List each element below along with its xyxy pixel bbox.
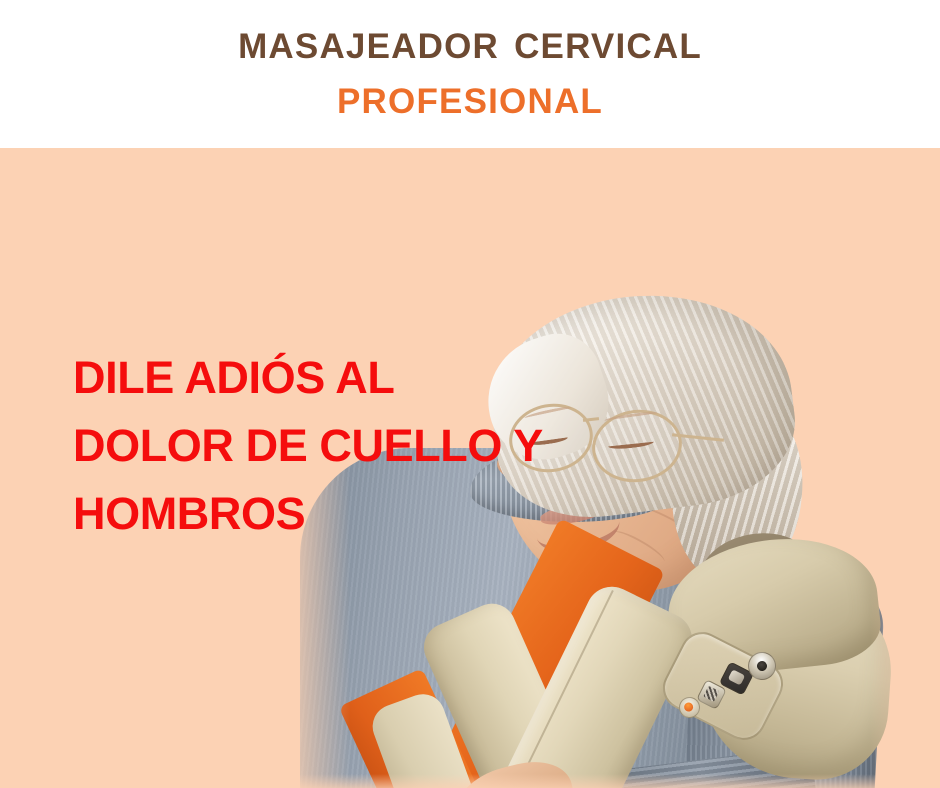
page-title: Masajeador Cervical: [238, 0, 702, 70]
page-subtitle: Profesional: [337, 68, 603, 124]
headline-line-2: DOLOR DE CUELLO Y: [73, 412, 543, 480]
headline-line-3: HOMBROS: [73, 480, 543, 548]
advertisement-banner: DILE ADIÓS AL DOLOR DE CUELLO Y HOMBROS …: [0, 0, 940, 788]
photo-edge-blend-right: [870, 148, 940, 788]
product-photo-stage: DILE ADIÓS AL DOLOR DE CUELLO Y HOMBROS: [0, 148, 940, 788]
headline-line-1: DILE ADIÓS AL: [73, 344, 543, 412]
photo-edge-blend-bottom: [0, 774, 940, 788]
headline-block: DILE ADIÓS AL DOLOR DE CUELLO Y HOMBROS: [73, 344, 543, 548]
header-band: Masajeador Cervical Profesional: [0, 0, 940, 148]
